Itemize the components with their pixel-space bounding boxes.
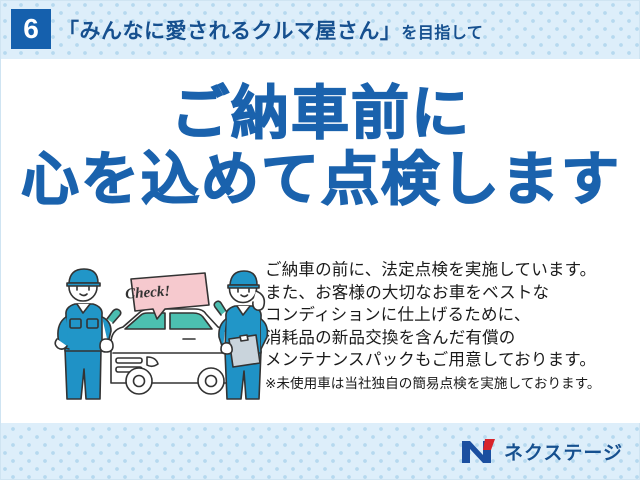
- body-copy: ご納車の前に、法定点検を実施しています。 また、お客様の大切なお車をベストな コ…: [265, 259, 629, 394]
- headline-line-2: 心を込めて点検します: [1, 147, 640, 213]
- body-line: ご納車の前に、法定点検を実施しています。: [265, 259, 629, 282]
- header-title-quoted: 「みんなに愛されるクルマ屋さん」: [58, 15, 401, 45]
- body-line: 消耗品の新品交換を含んだ有償の: [265, 327, 629, 350]
- header-title-suffix: を目指して: [401, 19, 483, 43]
- check-label: Check!: [125, 283, 171, 302]
- body-note: ※未使用車は当社独自の簡易点検を実施しております。: [265, 374, 629, 394]
- car-graphic: [111, 309, 229, 394]
- content-panel: ご納車前に 心を込めて点検します ご納車の前に、法定点検を実施しています。 また…: [1, 59, 640, 423]
- section-number-badge: 6: [11, 9, 51, 49]
- body-line: また、お客様の大切なお車をベストな: [265, 282, 629, 305]
- headline-line-1: ご納車前に: [1, 81, 640, 147]
- nextage-logo-text: ネクステージ: [504, 438, 623, 465]
- nextage-logo: ネクステージ: [461, 437, 623, 465]
- banner-footer: ネクステージ: [1, 423, 640, 481]
- mechanics-illustration-svg: Check!: [53, 257, 275, 405]
- promo-banner: 6 「みんなに愛されるクルマ屋さん」 を目指して ご納車前に 心を込めて点検しま…: [0, 0, 640, 480]
- header-title: 「みんなに愛されるクルマ屋さん」 を目指して: [58, 15, 483, 47]
- body-line: コンディションに仕上げるために、: [265, 304, 629, 327]
- body-line: メンテナンスパックもご用意しております。: [265, 349, 629, 372]
- mechanics-illustration: Check!: [53, 257, 275, 405]
- headline: ご納車前に 心を込めて点検します: [1, 81, 640, 213]
- nextage-n-mark-icon: [461, 438, 497, 464]
- banner-header: 6 「みんなに愛されるクルマ屋さん」 を目指して: [1, 1, 640, 59]
